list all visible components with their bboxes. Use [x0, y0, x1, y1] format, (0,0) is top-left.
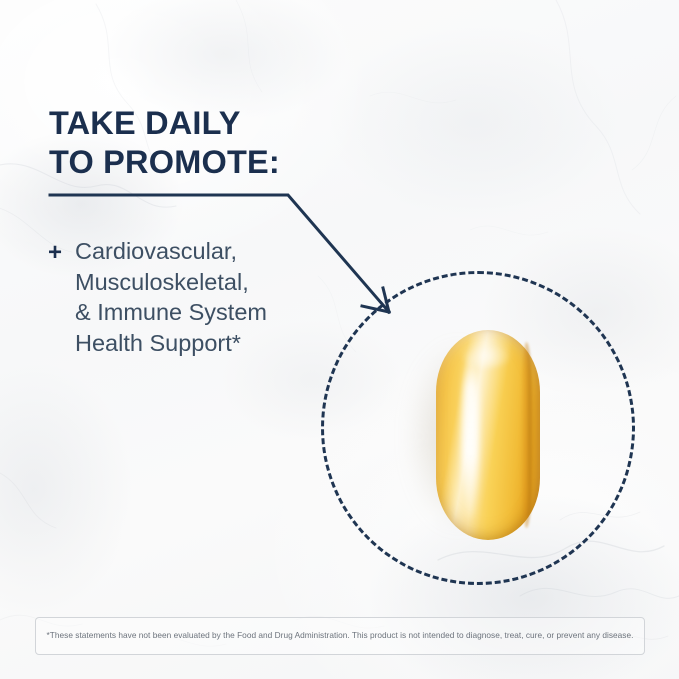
disclaimer-text: *These statements have not been evaluate… — [39, 631, 642, 641]
page-title: TAKE DAILY TO PROMOTE: — [49, 104, 469, 181]
capsule-seam — [520, 342, 533, 528]
softgel-capsule — [404, 322, 584, 552]
capsule-top-highlight — [460, 338, 512, 368]
capsule-highlight — [462, 350, 479, 518]
product-benefits-panel: TAKE DAILY TO PROMOTE: + Cardiovascular,… — [0, 0, 679, 679]
plus-icon: + — [48, 236, 62, 265]
benefits-text: Cardiovascular, Musculoskeletal, & Immun… — [75, 236, 267, 358]
benefits-list: + Cardiovascular, Musculoskeletal, & Imm… — [48, 236, 348, 358]
disclaimer-box: *These statements have not been evaluate… — [35, 617, 645, 655]
capsule-body — [436, 330, 540, 540]
